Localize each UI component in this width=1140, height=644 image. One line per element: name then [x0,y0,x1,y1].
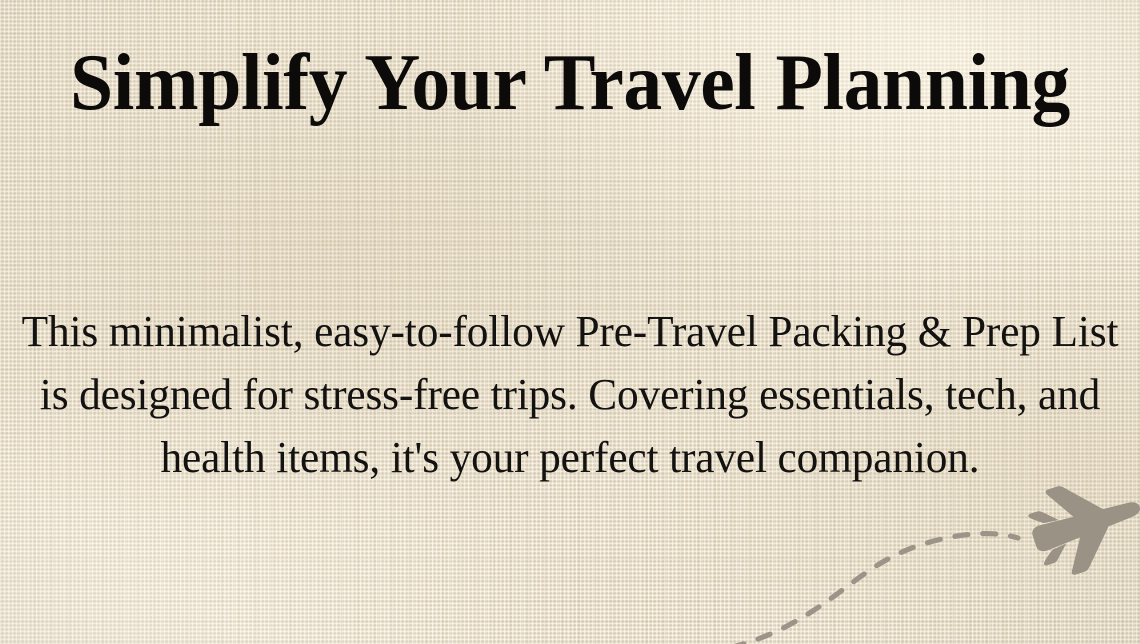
poster-content: Simplify Your Travel Planning This minim… [0,0,1140,644]
page-title: Simplify Your Travel Planning [17,36,1123,130]
page-description: This minimalist, easy-to-follow Pre-Trav… [16,300,1123,489]
poster-canvas: Simplify Your Travel Planning This minim… [0,0,1140,644]
